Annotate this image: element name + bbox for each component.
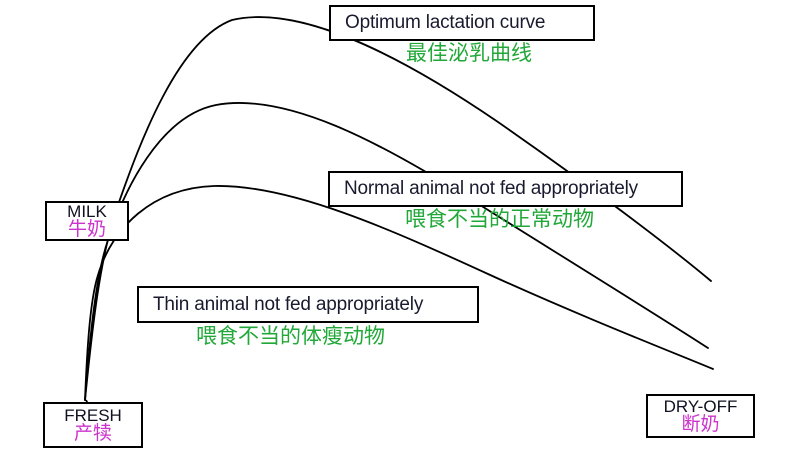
callout-thin-label-cn: 喂食不当的体瘦动物	[196, 326, 385, 347]
callout-thin-label: Thin animal not fed appropriately	[153, 294, 423, 316]
callout-optimum-lactation-curve[interactable]: Optimum lactation curve	[329, 5, 595, 41]
curve-optimum	[85, 17, 711, 400]
callout-thin-animal[interactable]: Thin animal not fed appropriately	[137, 286, 479, 323]
callout-optimum-label-cn: 最佳泌乳曲线	[406, 43, 532, 64]
curve-normal	[85, 103, 708, 400]
lactation-curve-diagram: Optimum lactation curve 最佳泌乳曲线 Normal an…	[0, 0, 797, 452]
y-axis-label-milk: MILK 牛奶	[45, 201, 129, 241]
x-axis-start-fresh: FRESH 产犊	[43, 402, 143, 448]
x-axis-start-cn: 产犊	[74, 424, 112, 443]
callout-normal-animal[interactable]: Normal animal not fed appropriately	[328, 171, 683, 207]
callout-normal-label-cn: 喂食不当的正常动物	[405, 209, 594, 230]
x-axis-end-cn: 断奶	[681, 415, 719, 434]
callout-optimum-label: Optimum lactation curve	[345, 12, 545, 34]
x-axis-end-dryoff: DRY-OFF 断奶	[646, 394, 755, 438]
y-axis-label-cn: 牛奶	[68, 220, 106, 239]
callout-normal-label: Normal animal not fed appropriately	[344, 178, 638, 200]
